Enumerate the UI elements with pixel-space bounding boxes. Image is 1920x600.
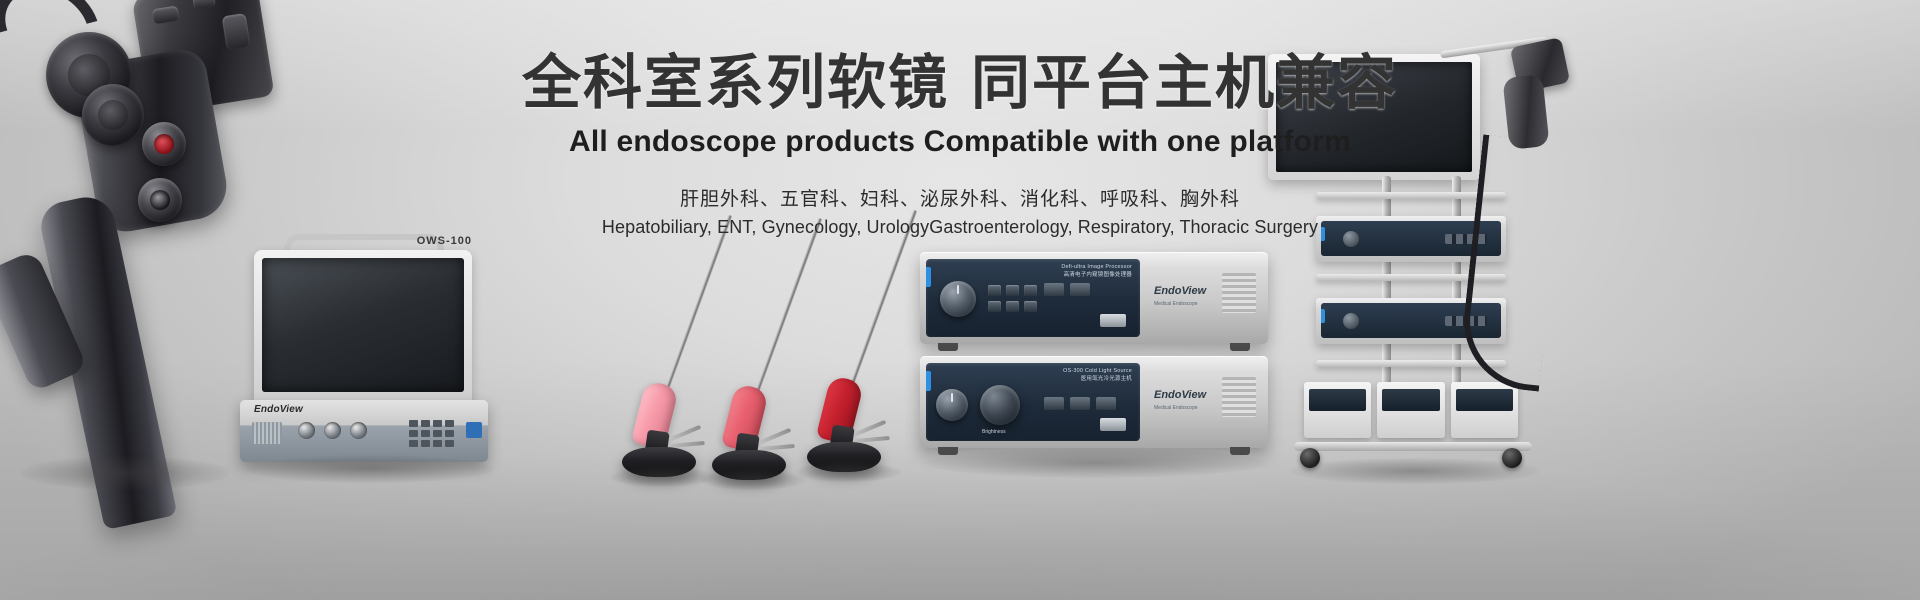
mode-buttons xyxy=(1044,397,1116,410)
output-port xyxy=(1100,418,1126,431)
cart-device-3b xyxy=(1377,382,1444,438)
panel-label-cn: 高清电子内窥镜图像处理器 xyxy=(1061,272,1132,280)
light-source-brand-label: EndoView xyxy=(1154,389,1206,401)
light-source-front-panel: OS-300 Cold Light Source 医用氙光冷光源主机 Brigh… xyxy=(926,363,1140,441)
power-indicator xyxy=(926,371,931,391)
endoscope-button-c xyxy=(222,13,251,50)
headline: 全科室系列软镜同平台主机兼容 xyxy=(0,52,1920,116)
processor-front-panel: Defi-ultra Image Processor 高清电子内窥镜图像处理器 xyxy=(926,259,1140,337)
panel-label-en: Defi-ultra Image Processor xyxy=(1061,264,1132,272)
processor-brand-sub: Medical Endoscope xyxy=(1154,301,1198,307)
processor-stack-image: Defi-ultra Image Processor 高清电子内窥镜图像处理器 … xyxy=(920,252,1272,462)
headline-part-2: 同平台主机兼容 xyxy=(971,50,1398,116)
cart-wheel-left xyxy=(1300,448,1320,468)
subheadline: All endoscope products Compatible with o… xyxy=(0,125,1920,159)
brightness-knob-label: Brightness xyxy=(982,429,1006,435)
cart-device-3a xyxy=(1304,382,1371,438)
banner-text-block: 全科室系列软镜同平台主机兼容 All endoscope products Co… xyxy=(0,52,1920,238)
blue-indicator xyxy=(466,422,482,438)
scope-stand-base xyxy=(807,442,881,472)
brightness-knob xyxy=(980,385,1020,425)
vent-grille-icon xyxy=(1222,377,1256,417)
departments-english: Hepatobiliary, ENT, Gynecology, UrologyG… xyxy=(0,217,1920,238)
light-source-brand-sub: Medical Endoscope xyxy=(1154,405,1198,411)
headline-part-1: 全科室系列软镜 xyxy=(522,50,949,116)
rigid-scope-red-image xyxy=(785,250,915,480)
processor-panel-label: Defi-ultra Image Processor 高清电子内窥镜图像处理器 xyxy=(1061,264,1132,280)
keypad xyxy=(409,420,454,447)
panel-label-cn: 医用氙光冷光源主机 xyxy=(1063,376,1132,384)
usb-port xyxy=(1100,314,1126,327)
departments-chinese: 肝胆外科、五官科、妇科、泌尿外科、消化科、呼吸科、胸外科 xyxy=(0,184,1920,211)
function-buttons xyxy=(1044,283,1090,296)
endoscope-button-b xyxy=(192,0,216,10)
vent-grille-icon xyxy=(1222,273,1256,313)
main-knob xyxy=(940,281,976,317)
scope-stand-base xyxy=(712,450,786,480)
light-source-side-panel: EndoView Medical Endoscope xyxy=(1148,363,1262,441)
scope-stand-base xyxy=(622,447,696,477)
port-3 xyxy=(350,422,367,439)
cart-base xyxy=(1294,442,1532,451)
light-source-panel-label: OS-300 Cold Light Source 医用氙光冷光源主机 xyxy=(1063,368,1132,384)
processor-feet xyxy=(938,343,1250,351)
promotional-banner: OWS-100 EndoView xyxy=(0,0,1920,600)
panel-label-en: OS-300 Cold Light Source xyxy=(1063,368,1132,376)
cart-wheel-right xyxy=(1502,448,1522,468)
processor-side-panel: EndoView Medical Endoscope xyxy=(1148,259,1262,337)
processor-brand-label: EndoView xyxy=(1154,285,1206,297)
light-source-feet xyxy=(938,447,1250,455)
power-indicator xyxy=(926,267,931,287)
image-processor-unit: Defi-ultra Image Processor 高清电子内窥镜图像处理器 … xyxy=(920,252,1268,344)
button-grid xyxy=(988,285,1037,312)
light-source-unit: OS-300 Cold Light Source 医用氙光冷光源主机 Brigh… xyxy=(920,356,1268,448)
endoscope-button-a xyxy=(152,6,180,25)
power-knob xyxy=(936,389,968,421)
port-2 xyxy=(324,422,341,439)
cart-device-2-knob xyxy=(1343,313,1359,329)
